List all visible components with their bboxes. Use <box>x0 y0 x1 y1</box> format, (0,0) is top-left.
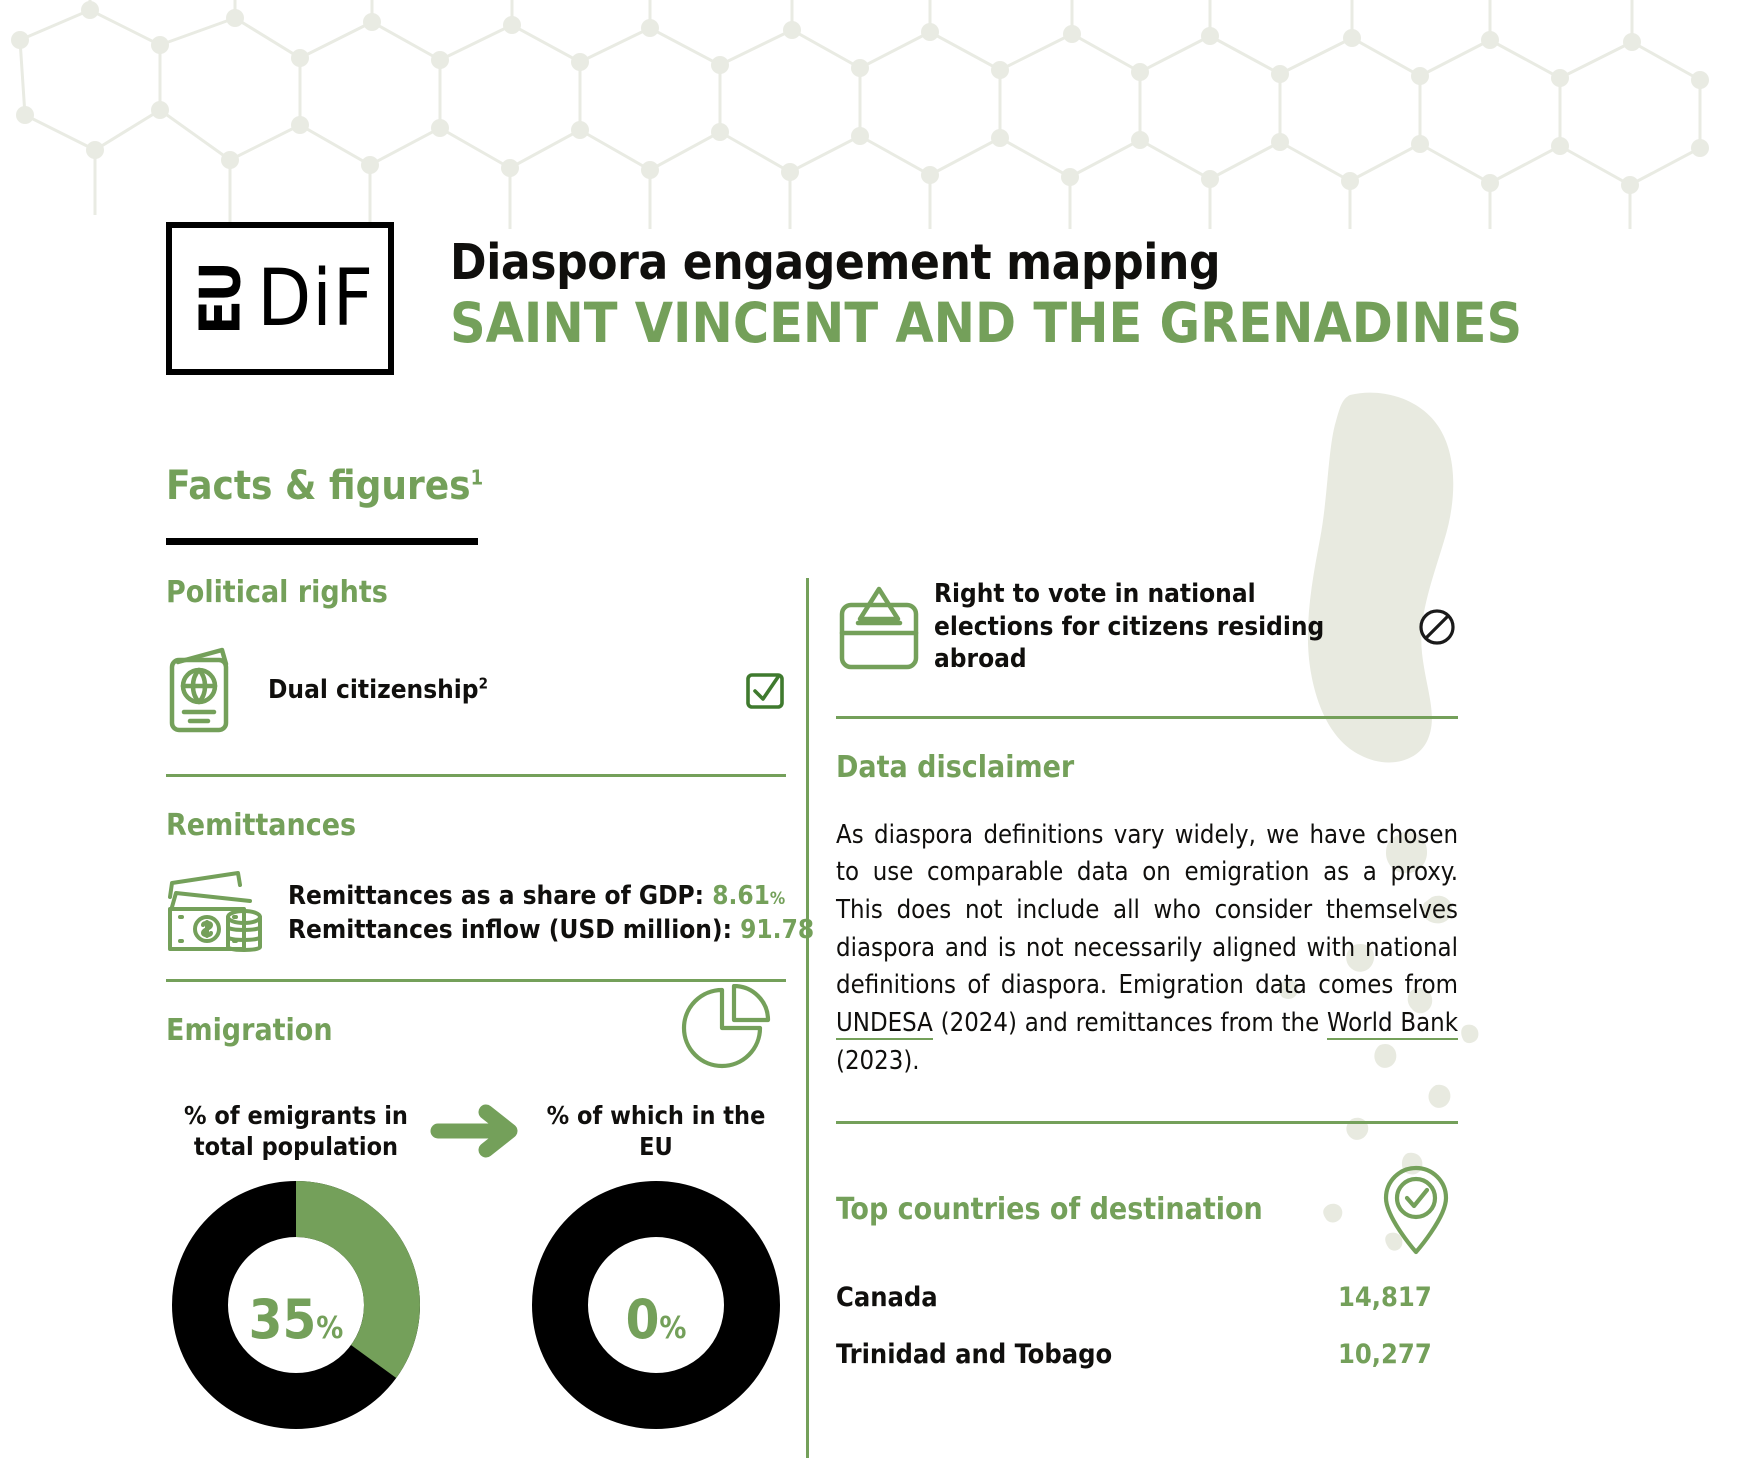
right-to-vote-row: Right to vote in national elections for … <box>836 578 1458 676</box>
facts-and-figures-heading: Facts & figures1 <box>166 466 483 545</box>
donut-chart-eu-share: 0% <box>532 1181 780 1429</box>
disclaimer-part-3: (2023). <box>836 1046 920 1076</box>
facts-heading-footnote: 1 <box>471 466 484 490</box>
eudif-logo: EU DiF <box>166 222 394 375</box>
donut-1-percent: % <box>316 1311 343 1346</box>
emigration-col1-label: % of emigrants in total population <box>172 1100 420 1163</box>
column-divider <box>806 578 809 1458</box>
facts-heading-label: Facts & figures <box>166 463 471 509</box>
remittances-gdp-value: 8.61 <box>712 881 770 911</box>
right-to-vote-label: Right to vote in national elections for … <box>934 578 1364 676</box>
emigration-donut-charts: 35% 0% <box>166 1181 786 1429</box>
page-title: Diaspora engagement mapping <box>450 236 1522 291</box>
destination-row-2: Trinidad and Tobago 10,277 <box>836 1339 1458 1370</box>
data-disclaimer-text: As diaspora definitions vary widely, we … <box>836 817 1458 1081</box>
donut-chart-2-value: 0% <box>532 1293 780 1347</box>
disclaimer-source-undesa[interactable]: UNDESA <box>836 1008 933 1040</box>
location-pin-check-icon <box>1374 1164 1458 1256</box>
molecular-pattern-background <box>0 0 1752 230</box>
remittances-title: Remittances <box>166 811 786 841</box>
factsheet-page: EU DiF Diaspora engagement mapping SAINT… <box>0 0 1752 1469</box>
right-column: Right to vote in national elections for … <box>836 578 1458 1370</box>
disclaimer-part-1: As diaspora definitions vary widely, we … <box>836 820 1458 1001</box>
arrow-right-icon <box>430 1102 522 1160</box>
destination-value-2: 10,277 <box>1338 1339 1458 1370</box>
top-destinations-title: Top countries of destination <box>836 1195 1263 1225</box>
checkbox-checked-icon <box>744 669 786 711</box>
prohibited-icon <box>1416 606 1458 648</box>
dual-citizenship-text: Dual citizenship <box>268 675 479 705</box>
donut-chart-emigrants-share: 35% <box>172 1181 420 1429</box>
dual-citizenship-label: Dual citizenship2 <box>268 674 488 707</box>
emigration-column-headers: % of emigrants in total population % of … <box>166 1100 786 1163</box>
emigration-header: Emigration <box>166 1016 786 1074</box>
emigration-title: Emigration <box>166 1016 333 1046</box>
logo-eu-text: EU <box>194 263 250 334</box>
destination-row-1: Canada 14,817 <box>836 1282 1458 1313</box>
passport-icon <box>166 646 238 734</box>
destination-country-2: Trinidad and Tobago <box>836 1339 1112 1370</box>
disclaimer-part-2: (2024) and remittances from the <box>933 1008 1327 1038</box>
dual-citizenship-footnote: 2 <box>479 674 488 692</box>
destination-country-1: Canada <box>836 1282 938 1313</box>
country-title: SAINT VINCENT AND THE GRENADINES <box>450 293 1522 355</box>
remittances-gdp-unit: % <box>770 889 785 909</box>
logo-dif-text: DiF <box>257 260 374 338</box>
remittances-gdp-line: Remittances as a share of GDP: 8.61% <box>288 879 814 913</box>
donut-2-number: 0 <box>626 1288 660 1351</box>
pie-chart-icon <box>676 984 772 1074</box>
cash-money-icon <box>166 871 268 955</box>
left-column: Political rights Dual citizenship2 <box>166 578 786 1429</box>
dual-citizenship-row: Dual citizenship2 <box>166 646 786 734</box>
data-disclaimer-title: Data disclaimer <box>836 753 1458 783</box>
emigration-col2-label: % of which in the EU <box>532 1100 780 1163</box>
top-destinations-header: Top countries of destination <box>836 1164 1458 1256</box>
disclaimer-source-world-bank[interactable]: World Bank <box>1327 1008 1458 1040</box>
page-header: EU DiF Diaspora engagement mapping SAINT… <box>166 222 1522 375</box>
facts-heading-underline <box>166 538 478 545</box>
ballot-box-icon <box>836 583 908 671</box>
destination-value-1: 14,817 <box>1338 1282 1458 1313</box>
donut-2-percent: % <box>659 1311 686 1346</box>
donut-1-number: 35 <box>249 1288 317 1351</box>
remittances-inflow-value: 91.78 <box>740 915 814 945</box>
donut-chart-1-value: 35% <box>172 1293 420 1347</box>
remittances-inflow-label: Remittances inflow (USD million): <box>288 915 732 945</box>
remittances-gdp-label: Remittances as a share of GDP: <box>288 881 704 911</box>
remittances-inflow-line: Remittances inflow (USD million): 91.78 <box>288 913 814 947</box>
remittances-row: Remittances as a share of GDP: 8.61% Rem… <box>166 871 786 955</box>
political-rights-title: Political rights <box>166 578 786 608</box>
